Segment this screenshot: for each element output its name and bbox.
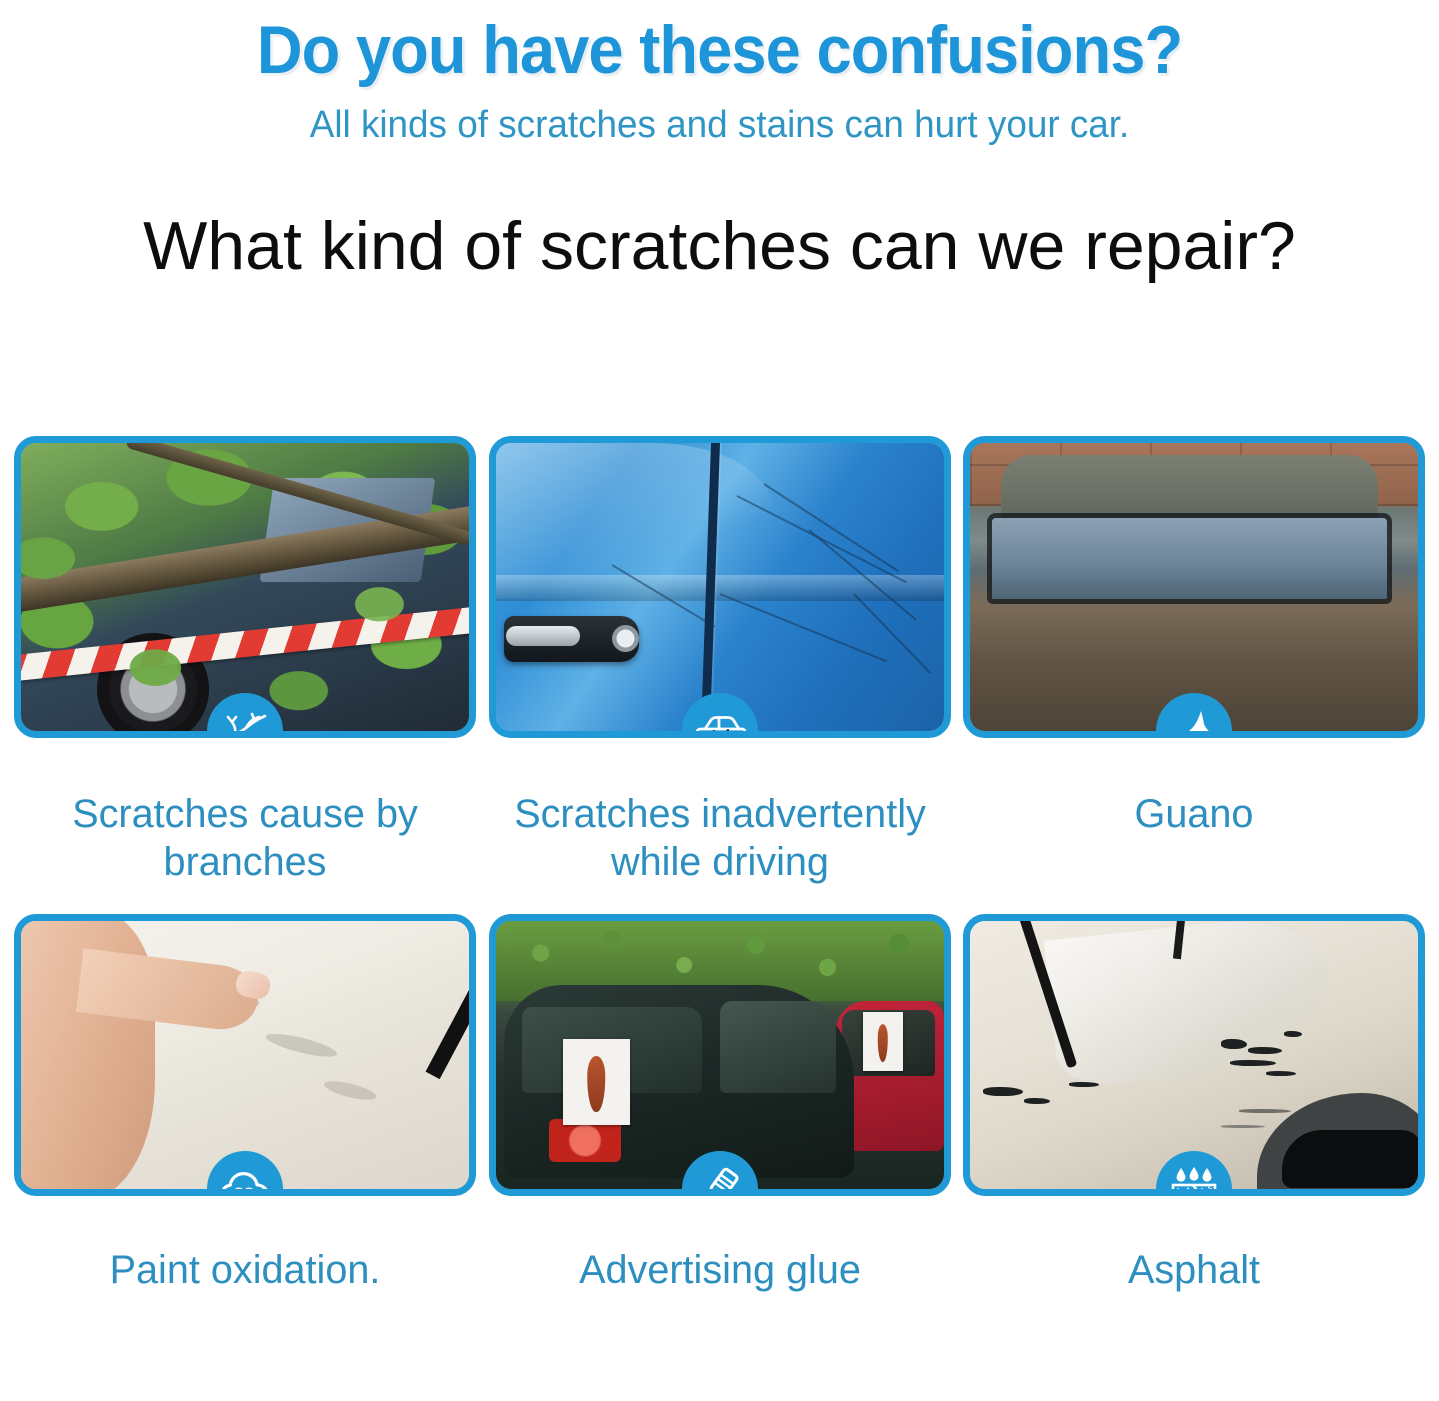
card-caption-guano: Guano (965, 790, 1422, 838)
scratch-type-grid: Scratches cause by branches (0, 436, 1439, 1294)
photo-frame-guano (963, 436, 1425, 738)
card-caption-advertising-glue: Advertising glue (491, 1246, 948, 1294)
photo-frame-paint-oxidation: CO 2 (14, 914, 476, 1196)
photo-frame-driving (489, 436, 951, 738)
card-caption-paint-oxidation: Paint oxidation. (16, 1246, 473, 1294)
card-advertising-glue[interactable]: Advertising glue (489, 914, 951, 1294)
card-caption-branches: Scratches cause by branches (16, 790, 473, 886)
svg-text:2: 2 (255, 1192, 260, 1196)
section-heading: What kind of scratches can we repair? (0, 204, 1439, 288)
card-guano[interactable]: Guano (963, 436, 1425, 886)
card-driving[interactable]: Scratches inadvertently while driving (489, 436, 951, 886)
page-header: Do you have these confusions? All kinds … (0, 0, 1439, 288)
photo-fallen-branch (21, 443, 469, 731)
photo-frame-branches (14, 436, 476, 738)
card-branches[interactable]: Scratches cause by branches (14, 436, 476, 886)
photo-advertising-flyers (496, 921, 944, 1189)
photo-paint-oxidation (21, 921, 469, 1189)
photo-frame-asphalt (963, 914, 1425, 1196)
card-caption-asphalt: Asphalt (965, 1246, 1422, 1294)
card-paint-oxidation[interactable]: CO 2 Paint oxidation. (14, 914, 476, 1294)
svg-text:CO: CO (234, 1184, 255, 1196)
photo-frame-advertising-glue (489, 914, 951, 1196)
photo-blue-door-scratch (496, 443, 944, 731)
page-subtitle: All kinds of scratches and stains can hu… (22, 100, 1418, 150)
grid-row-1: Scratches cause by branches (0, 436, 1439, 886)
photo-guano-car (970, 443, 1418, 731)
photo-asphalt-stains (970, 921, 1418, 1189)
card-caption-driving: Scratches inadvertently while driving (491, 790, 948, 886)
page-title: Do you have these confusions? (50, 10, 1388, 90)
card-asphalt[interactable]: Asphalt (963, 914, 1425, 1294)
grid-row-2: CO 2 Paint oxidation. (0, 914, 1439, 1294)
